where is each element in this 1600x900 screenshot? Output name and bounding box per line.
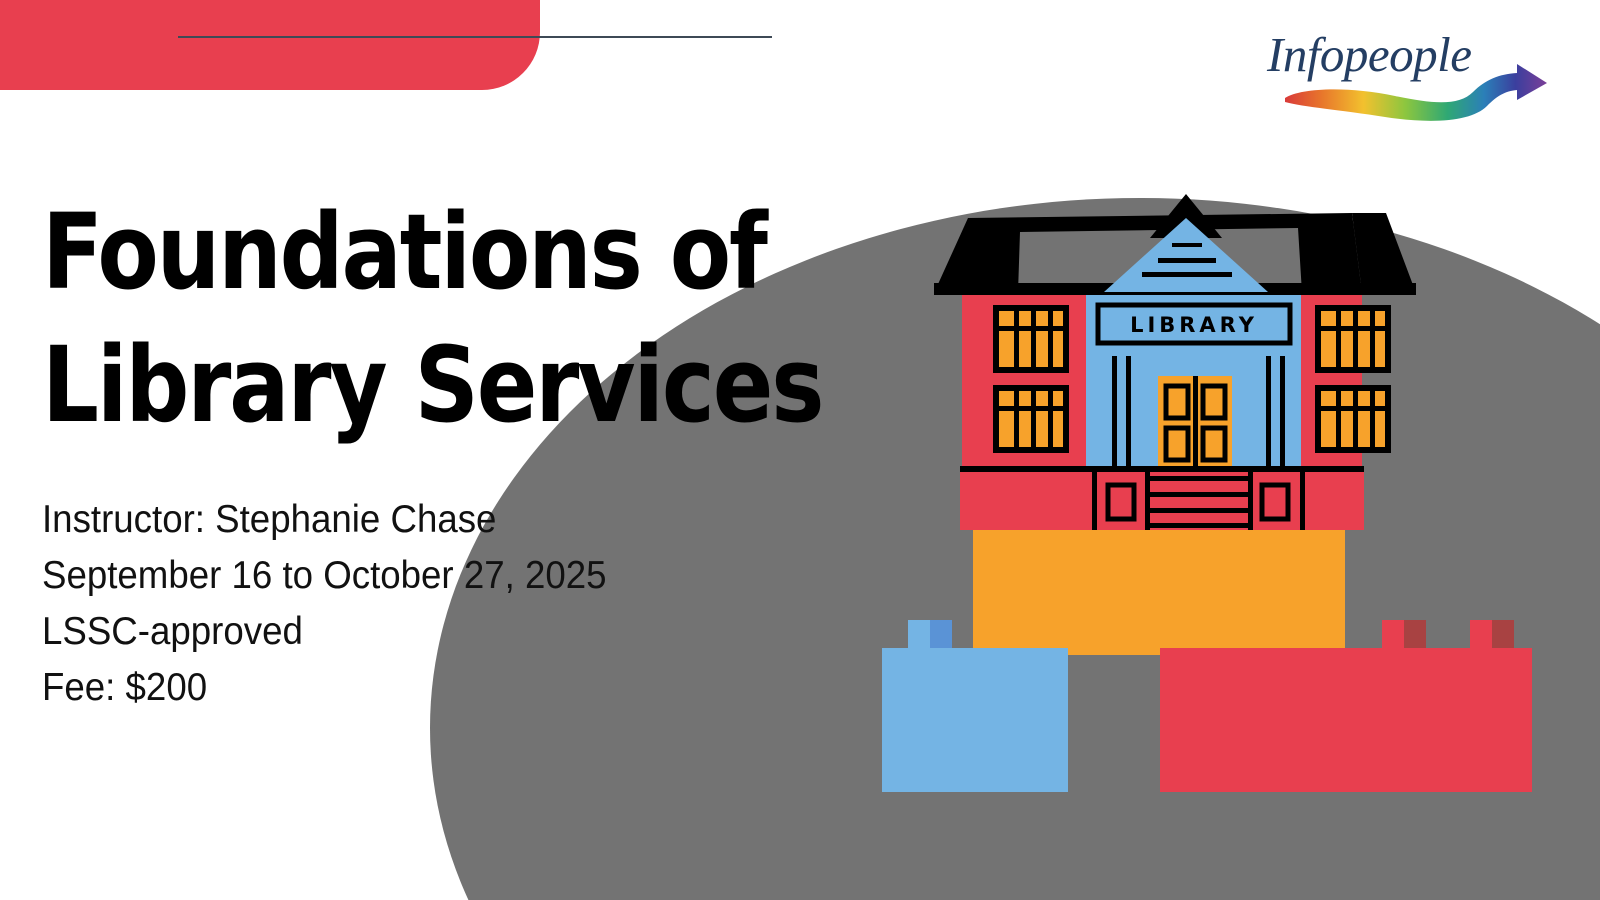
- detail-fee: Fee: $200: [42, 660, 813, 716]
- window-lower-right: [1318, 388, 1388, 450]
- detail-accreditation: LSSC-approved: [42, 604, 813, 660]
- infopeople-logo[interactable]: Infopeople: [1255, 24, 1555, 129]
- library-building-illustration: LIBRARY: [900, 180, 1420, 530]
- title-line-1: Foundations of: [42, 186, 799, 319]
- detail-dates: September 16 to October 27, 2025: [42, 548, 813, 604]
- blue-lego-block: [882, 648, 1068, 792]
- stud-right-face: [930, 620, 952, 649]
- course-details: Instructor: Stephanie Chase September 16…: [42, 492, 813, 716]
- window-upper-right: [1318, 308, 1388, 370]
- red-lego-block: [1160, 648, 1532, 792]
- page-title: Foundations of Library Services: [42, 186, 799, 452]
- stud-right-face: [1404, 620, 1426, 649]
- hairline-divider: [178, 36, 772, 38]
- slide-canvas: Infopeople Foundations of Library Servic…: [0, 0, 1600, 900]
- library-building-icon: LIBRARY: [900, 180, 1420, 530]
- blue-block-stud: [908, 620, 952, 649]
- detail-instructor: Instructor: Stephanie Chase: [42, 492, 813, 548]
- window-upper-left: [996, 308, 1066, 370]
- orange-lego-block: [973, 515, 1345, 655]
- library-sign-text: LIBRARY: [1130, 313, 1258, 337]
- stud-left-face: [1382, 620, 1404, 649]
- stud-right-face: [1492, 620, 1514, 649]
- red-banner-shape: [0, 0, 540, 90]
- red-block-stud-1: [1382, 620, 1426, 649]
- stud-left-face: [908, 620, 930, 649]
- logo-swoosh-icon: [1255, 62, 1555, 128]
- red-block-stud-2: [1470, 620, 1514, 649]
- title-line-2: Library Services: [42, 319, 799, 452]
- stud-left-face: [1470, 620, 1492, 649]
- window-lower-left: [996, 388, 1066, 450]
